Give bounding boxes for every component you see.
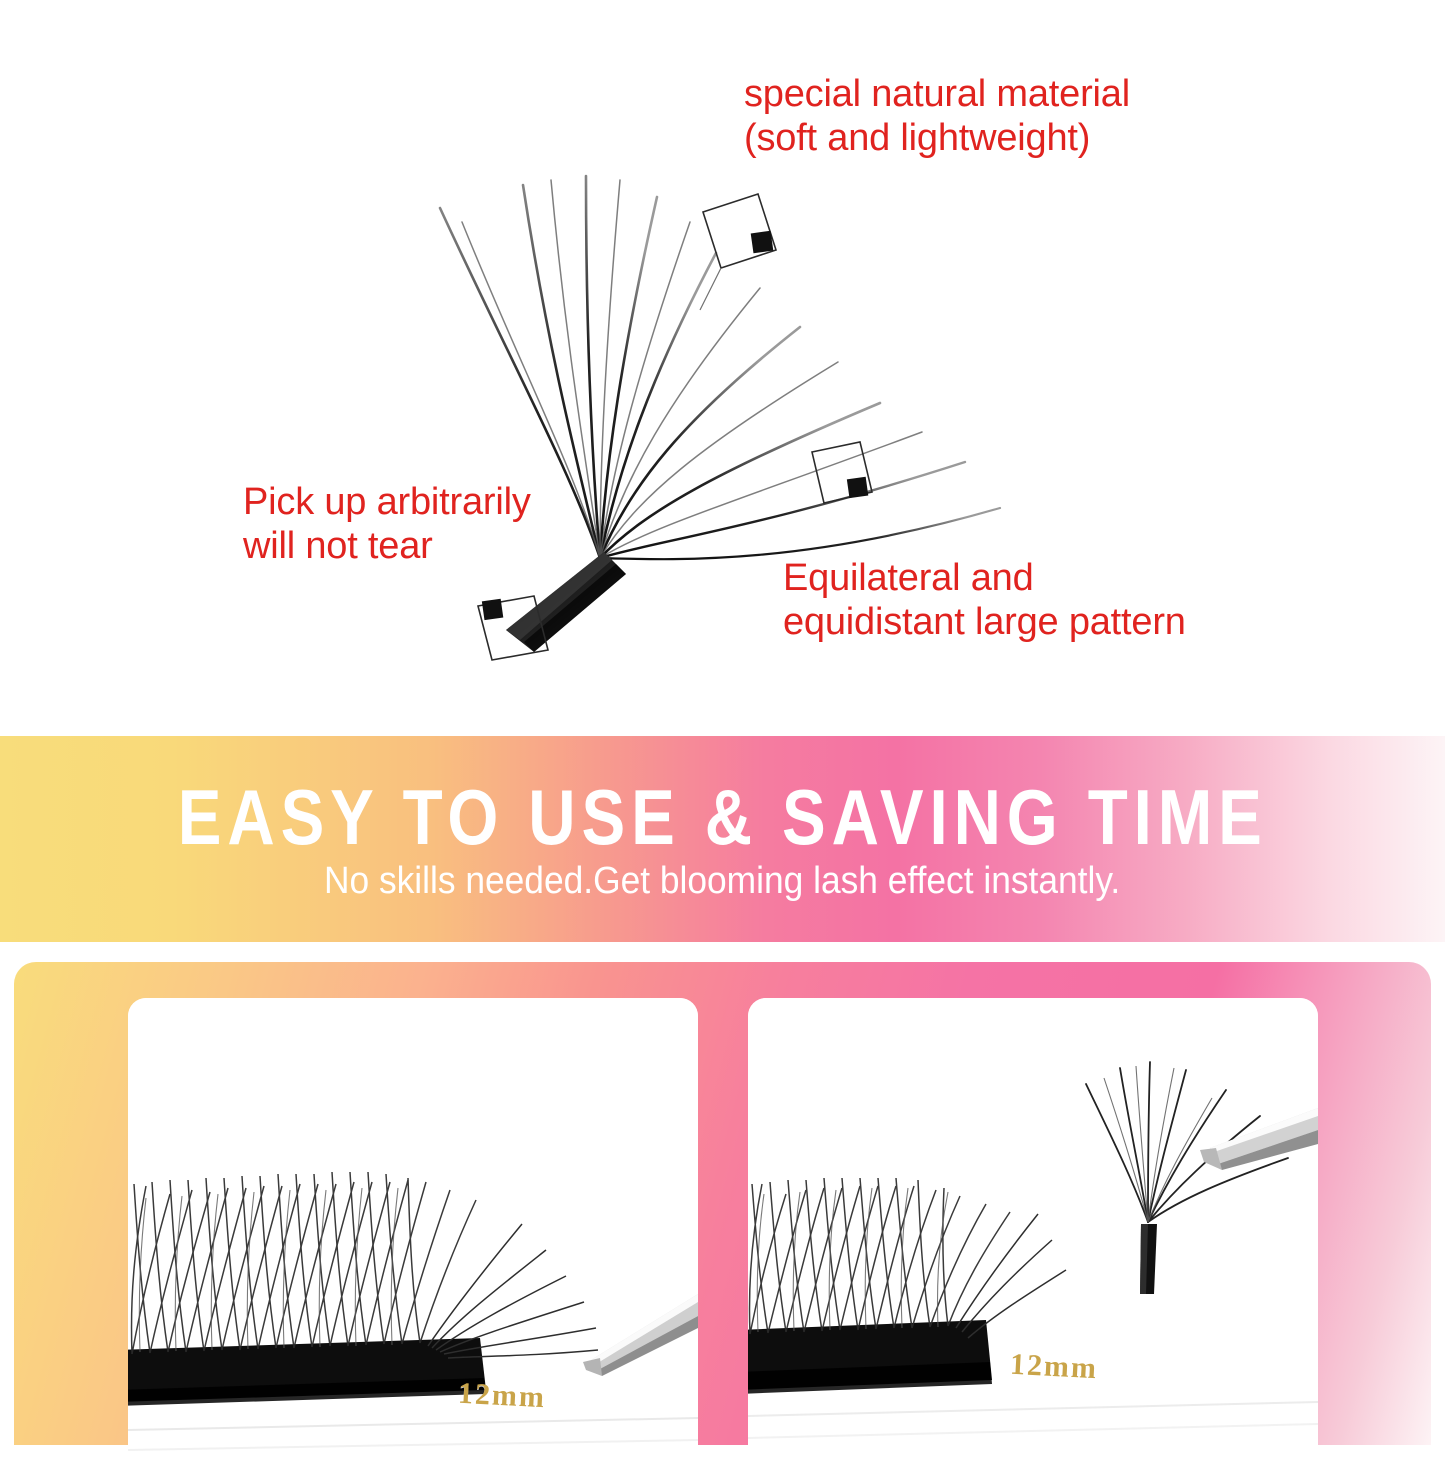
photo-caption-12mm-right: 12mm (1009, 1348, 1099, 1387)
callout-box-top-right (700, 194, 776, 310)
photo-lash-strip-tweezers (128, 998, 698, 1468)
gradient-banner: EASY TO USE & SAVING TIME No skills need… (0, 736, 1445, 942)
annotation-equilateral-equidistant: Equilateral and equidistant large patter… (783, 556, 1186, 644)
hero-illustration-section: special natural material (soft and light… (0, 0, 1445, 735)
photo-card-single-fan-lifted: 12mm (748, 998, 1318, 1468)
photo-caption-12mm-left: 12mm (457, 1377, 547, 1416)
banner-subtitle: No skills needed.Get blooming lash effec… (324, 862, 1120, 900)
photo-gallery-panel: 12mm (14, 962, 1431, 1445)
photo-card-lash-strip-tweezers: 12mm (128, 998, 698, 1468)
banner-headline: EASY TO USE & SAVING TIME (178, 778, 1268, 856)
lash-fan-diagram (0, 0, 1445, 735)
annotation-special-natural-material: special natural material (soft and light… (744, 72, 1130, 160)
photo-single-fan-lifted (748, 998, 1318, 1468)
callout-box-mid-right (812, 442, 872, 503)
annotation-pick-up-arbitrarily: Pick up arbitrarily will not tear (243, 480, 531, 568)
